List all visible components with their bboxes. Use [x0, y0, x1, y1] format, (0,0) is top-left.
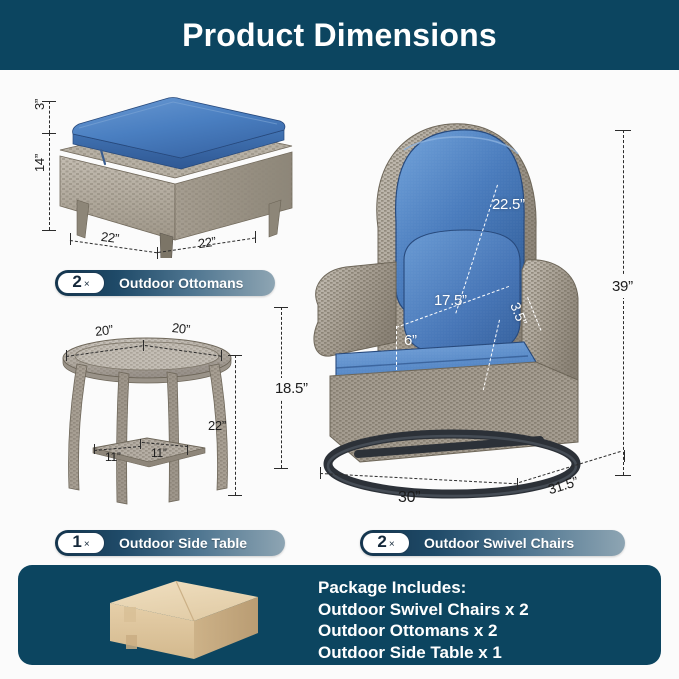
- page-title: Product Dimensions: [182, 17, 497, 54]
- badge-count-number: 2: [377, 533, 386, 550]
- chair-cap-seat-bottom: [274, 468, 288, 469]
- package-item-1: Outdoor Ottomans x 2: [318, 620, 529, 642]
- chair-dim-overall-width: 30”: [398, 489, 420, 507]
- ottoman-dim-base-height: 14”: [32, 154, 47, 172]
- ottoman-14in-line: [49, 133, 50, 230]
- package-text-block: Package Includes: Outdoor Swivel Chairs …: [318, 577, 529, 663]
- chair-dim-seat-depth: 17.5”: [434, 292, 467, 309]
- chair-39in-line: [623, 130, 624, 475]
- badge-label-swivel-chairs: Outdoor Swivel Chairs: [424, 535, 574, 551]
- package-includes-panel: Package Includes: Outdoor Swivel Chairs …: [18, 565, 661, 665]
- table-cap-tr: [221, 350, 222, 361]
- ottoman-cap-bottom: [42, 230, 56, 231]
- badge-count-multiplier: ×: [84, 539, 90, 550]
- chair-6in-line: [396, 326, 397, 370]
- chair-dim-backrest-height: 22.5”: [492, 196, 525, 213]
- chair-cap-wm: [517, 478, 518, 490]
- table-dim-top-width-left: 20”: [94, 322, 114, 339]
- table-cap-sr: [187, 445, 188, 455]
- ottoman-dim-cushion-thickness: 3”: [32, 99, 47, 110]
- cardboard-box-icon: [98, 575, 278, 663]
- chair-cap-h-bottom: [615, 475, 631, 476]
- badge-label-side-table: Outdoor Side Table: [119, 535, 247, 551]
- table-dim-top-width-right: 20”: [171, 320, 191, 337]
- table-cap-h-bottom: [228, 495, 242, 496]
- package-item-0: Outdoor Swivel Chairs x 2: [318, 599, 529, 621]
- package-item-2: Outdoor Side Table x 1: [318, 642, 529, 664]
- page-header: Product Dimensions: [0, 0, 679, 70]
- badge-outdoor-side-table[interactable]: 1 × Outdoor Side Table: [55, 530, 285, 556]
- ottoman-dim-width-left: 22”: [100, 229, 120, 246]
- chair-cap-wr: [624, 450, 625, 462]
- ottoman-3in-line: [49, 101, 50, 133]
- chair-dim-seat-height: 18.5”: [275, 378, 308, 399]
- badge-outdoor-swivel-chairs[interactable]: 2 × Outdoor Swivel Chairs: [360, 530, 625, 556]
- table-cap-sm: [140, 439, 141, 449]
- badge-count-ottomans: 2 ×: [57, 272, 105, 294]
- badge-count-number: 2: [72, 273, 81, 290]
- chair-dim-overall-height: 39”: [612, 275, 633, 298]
- badge-count-multiplier: ×: [389, 539, 395, 550]
- table-dim-total-height: 22”: [208, 418, 226, 433]
- package-title: Package Includes:: [318, 577, 529, 599]
- table-dim-shelf-left: 11”: [105, 450, 121, 464]
- ottoman-cap-wl: [70, 233, 71, 245]
- badge-count-number: 1: [72, 533, 81, 550]
- badge-count-swivel-chairs: 2 ×: [362, 532, 410, 554]
- table-22in-line: [235, 355, 236, 495]
- badge-count-multiplier: ×: [84, 279, 90, 290]
- ottoman-dim-width-right: 22”: [197, 234, 217, 251]
- badge-label-ottomans: Outdoor Ottomans: [119, 275, 243, 291]
- table-dim-shelf-right: 11”: [151, 446, 167, 460]
- badge-count-side-table: 1 ×: [57, 532, 105, 554]
- chair-dim-seat-cushion-height: 6”: [404, 332, 417, 349]
- ottoman-svg: [55, 88, 300, 258]
- ottoman-cap-wr: [255, 231, 256, 243]
- badge-outdoor-ottomans[interactable]: 2 × Outdoor Ottomans: [55, 270, 275, 296]
